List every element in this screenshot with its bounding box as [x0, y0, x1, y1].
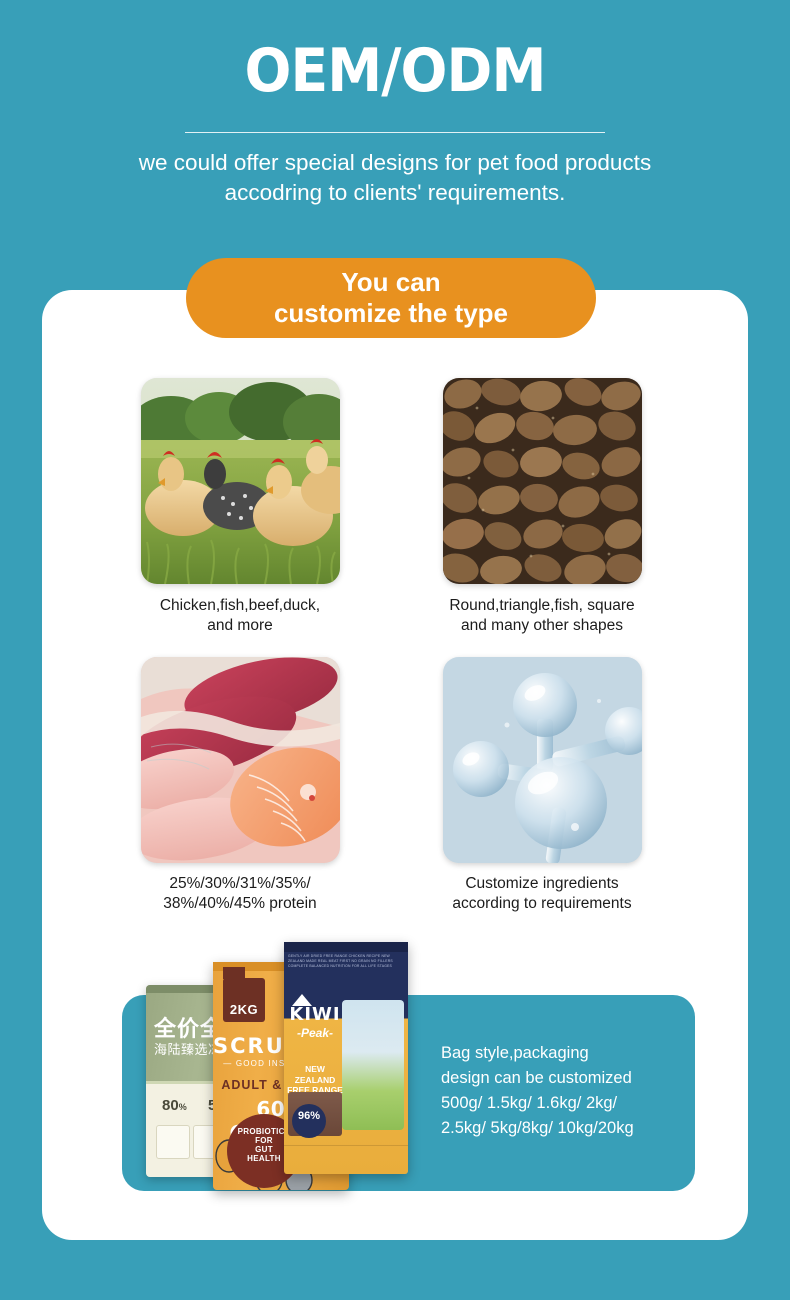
caption-chickens: Chicken,fish,beef,duck, and more [110, 596, 370, 636]
oem-odm-promo-page: OEM/ODM we could offer special designs f… [0, 0, 790, 1300]
chickens-photo-icon [141, 378, 340, 584]
header-divider [185, 132, 605, 133]
badge-line-2: customize the type [274, 298, 508, 329]
feature-image-kibble [443, 378, 642, 584]
caption-line-2: 38%/40%/45% protein [110, 894, 370, 914]
page-title: OEM/ODM [32, 38, 759, 104]
caption-line-2: and more [110, 616, 370, 636]
packaging-panel-text: Bag style,packaging design can be custom… [441, 1041, 691, 1141]
caption-line-1: Customize ingredients [412, 874, 672, 894]
caption-line-1: Round,triangle,fish, square [412, 596, 672, 616]
badge-line-1: You can [274, 267, 508, 298]
packaging-line-3: 500g/ 1.5kg/ 1.6kg/ 2kg/ [441, 1091, 691, 1116]
packaging-line-2: design can be customized [441, 1066, 691, 1091]
caption-line-2: according to requirements [412, 894, 672, 914]
feature-image-molecule [443, 657, 642, 863]
caption-kibble: Round,triangle,fish, square and many oth… [412, 596, 672, 636]
caption-protein: 25%/30%/31%/35%/ 38%/40%/45% protein [110, 874, 370, 914]
caption-line-2: and many other shapes [412, 616, 672, 636]
subtitle-line-2: accodring to clients' requirements. [55, 178, 735, 208]
packaging-line-1: Bag style,packaging [441, 1041, 691, 1066]
kibble-photo-icon [443, 378, 642, 584]
raw-meat-photo-icon [141, 657, 340, 863]
feature-image-chickens [141, 378, 340, 584]
packaging-line-4: 2.5kg/ 5kg/8kg/ 10kg/20kg [441, 1116, 691, 1141]
page-subtitle: we could offer special designs for pet f… [55, 148, 735, 208]
customize-type-badge[interactable]: You can customize the type [186, 258, 596, 338]
caption-line-1: 25%/30%/31%/35%/ [110, 874, 370, 894]
caption-ingredients: Customize ingredients according to requi… [412, 874, 672, 914]
feature-image-meat [141, 657, 340, 863]
subtitle-line-1: we could offer special designs for pet f… [55, 148, 735, 178]
molecule-photo-icon [443, 657, 642, 863]
caption-line-1: Chicken,fish,beef,duck, [110, 596, 370, 616]
